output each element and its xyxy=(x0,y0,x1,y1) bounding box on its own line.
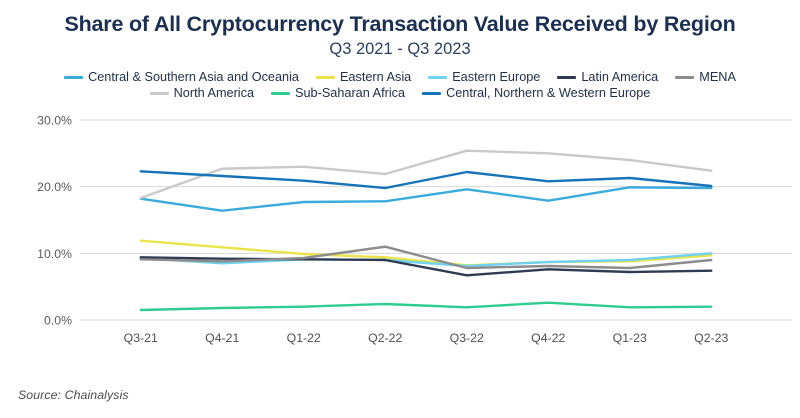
x-axis-tick-label: Q1-23 xyxy=(613,331,647,345)
legend-color-swatch-icon xyxy=(675,76,694,79)
x-axis-tick-label: Q1-22 xyxy=(287,331,321,345)
series-line xyxy=(141,151,712,198)
legend-item[interactable]: North America xyxy=(150,86,254,102)
legend-color-swatch-icon xyxy=(428,76,447,79)
legend-item-label: North America xyxy=(174,86,254,102)
legend-color-swatch-icon xyxy=(64,76,83,79)
page-title: Share of All Cryptocurrency Transaction … xyxy=(0,0,800,37)
x-axis-tick-label: Q3-22 xyxy=(450,331,484,345)
x-axis-tick-label: Q2-23 xyxy=(694,331,728,345)
y-axis-tick-label: 10.0% xyxy=(37,247,72,261)
legend-item-label: Eastern Europe xyxy=(452,70,540,86)
legend-color-swatch-icon xyxy=(422,92,441,95)
legend-item[interactable]: Central & Southern Asia and Oceania xyxy=(64,70,299,86)
series-line xyxy=(141,187,712,210)
page-subtitle: Q3 2021 - Q3 2023 xyxy=(0,37,800,59)
x-axis-tick-label: Q3-21 xyxy=(124,331,158,345)
legend-item-label: Eastern Asia xyxy=(340,70,411,86)
legend-item-label: Central & Southern Asia and Oceania xyxy=(88,70,299,86)
legend-item[interactable]: Sub-Saharan Africa xyxy=(271,86,405,102)
x-axis-tick-label: Q4-22 xyxy=(531,331,565,345)
legend-item-label: Central, Northern & Western Europe xyxy=(446,86,650,102)
chart-legend: Central & Southern Asia and OceaniaEaste… xyxy=(0,70,800,102)
y-axis-tick-label: 30.0% xyxy=(37,114,72,128)
y-axis-tick-label: 20.0% xyxy=(37,180,72,194)
series-line xyxy=(141,247,712,268)
series-line xyxy=(141,171,712,188)
source-caption: Source: Chainalysis xyxy=(18,388,129,402)
legend-item[interactable]: Latin America xyxy=(557,70,658,86)
legend-item[interactable]: MENA xyxy=(675,70,736,86)
plot-area: 0.0%10.0%20.0%30.0%Q3-21Q4-21Q1-22Q2-22Q… xyxy=(0,110,800,378)
legend-color-swatch-icon xyxy=(271,92,290,95)
legend-item-label: Latin America xyxy=(581,70,658,86)
x-axis-tick-label: Q2-22 xyxy=(368,331,402,345)
legend-row-secondary: North AmericaSub-Saharan AfricaCentral, … xyxy=(18,86,782,102)
legend-item[interactable]: Eastern Europe xyxy=(428,70,540,86)
y-axis-tick-label: 0.0% xyxy=(44,314,72,328)
legend-color-swatch-icon xyxy=(150,92,169,95)
x-axis-tick-label: Q4-21 xyxy=(205,331,239,345)
chart-page: Share of All Cryptocurrency Transaction … xyxy=(0,0,800,418)
legend-item-label: Sub-Saharan Africa xyxy=(295,86,405,102)
legend-row-primary: Central & Southern Asia and OceaniaEaste… xyxy=(18,70,782,86)
series-line xyxy=(141,303,712,310)
legend-color-swatch-icon xyxy=(557,76,576,79)
legend-item-label: MENA xyxy=(699,70,736,86)
legend-item[interactable]: Eastern Asia xyxy=(316,70,411,86)
legend-color-swatch-icon xyxy=(316,76,335,79)
legend-item[interactable]: Central, Northern & Western Europe xyxy=(422,86,650,102)
line-chart-svg: 0.0%10.0%20.0%30.0%Q3-21Q4-21Q1-22Q2-22Q… xyxy=(0,110,800,378)
